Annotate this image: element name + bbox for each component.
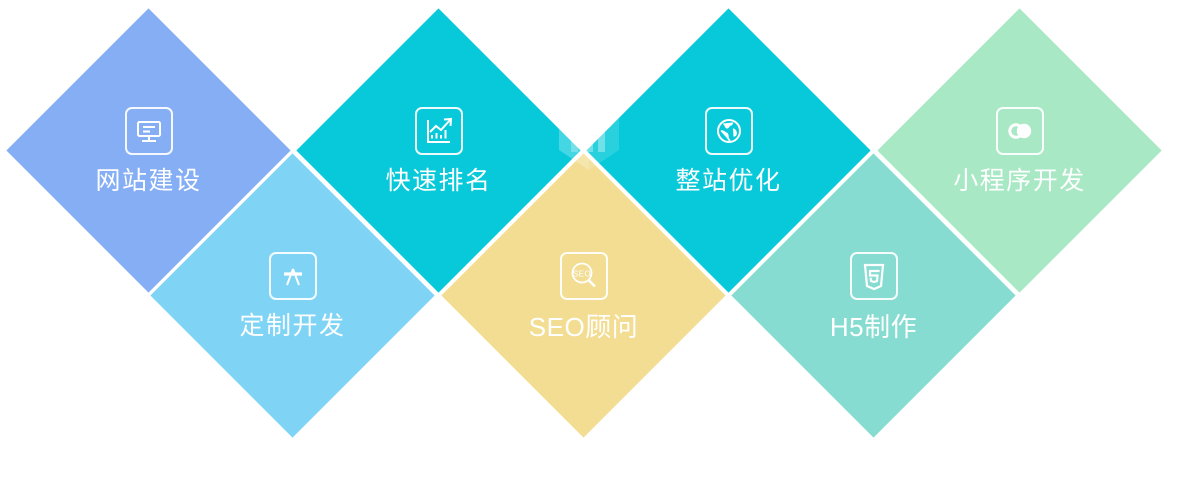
- tile-label-custom-development: 定制开发: [239, 314, 345, 339]
- service-diamond-grid: 网站建设 定制开发 快速排名 SEO SEO顾问 整站优化 H5制作: [0, 0, 1178, 447]
- tile-label-site-wide-optimization: 整站优化: [675, 169, 781, 194]
- service-tile-mini-program-development[interactable]: 小程序开发: [919, 50, 1120, 251]
- tile-label-website-construction: 网站建设: [95, 169, 201, 194]
- monitor-icon: [124, 107, 172, 155]
- html5-shield-icon: [849, 251, 897, 299]
- tile-label-h5-production: H5制作: [829, 313, 916, 339]
- two-circles-icon: [995, 107, 1043, 155]
- svg-text:SEO: SEO: [572, 269, 590, 278]
- app-store-icon: [268, 252, 316, 300]
- tile-label-fast-ranking: 快速排名: [385, 169, 491, 194]
- tile-label-mini-program-development: 小程序开发: [953, 169, 1086, 194]
- tile-shape-mini-program-development: 小程序开发: [877, 8, 1161, 292]
- globe-icon: [704, 107, 752, 155]
- tile-label-seo-consultant: SEO顾问: [528, 313, 637, 339]
- growth-chart-icon: [414, 107, 462, 155]
- seo-magnifier-icon: SEO: [559, 251, 607, 299]
- tile-content-mini-program-development: 小程序开发: [919, 50, 1120, 251]
